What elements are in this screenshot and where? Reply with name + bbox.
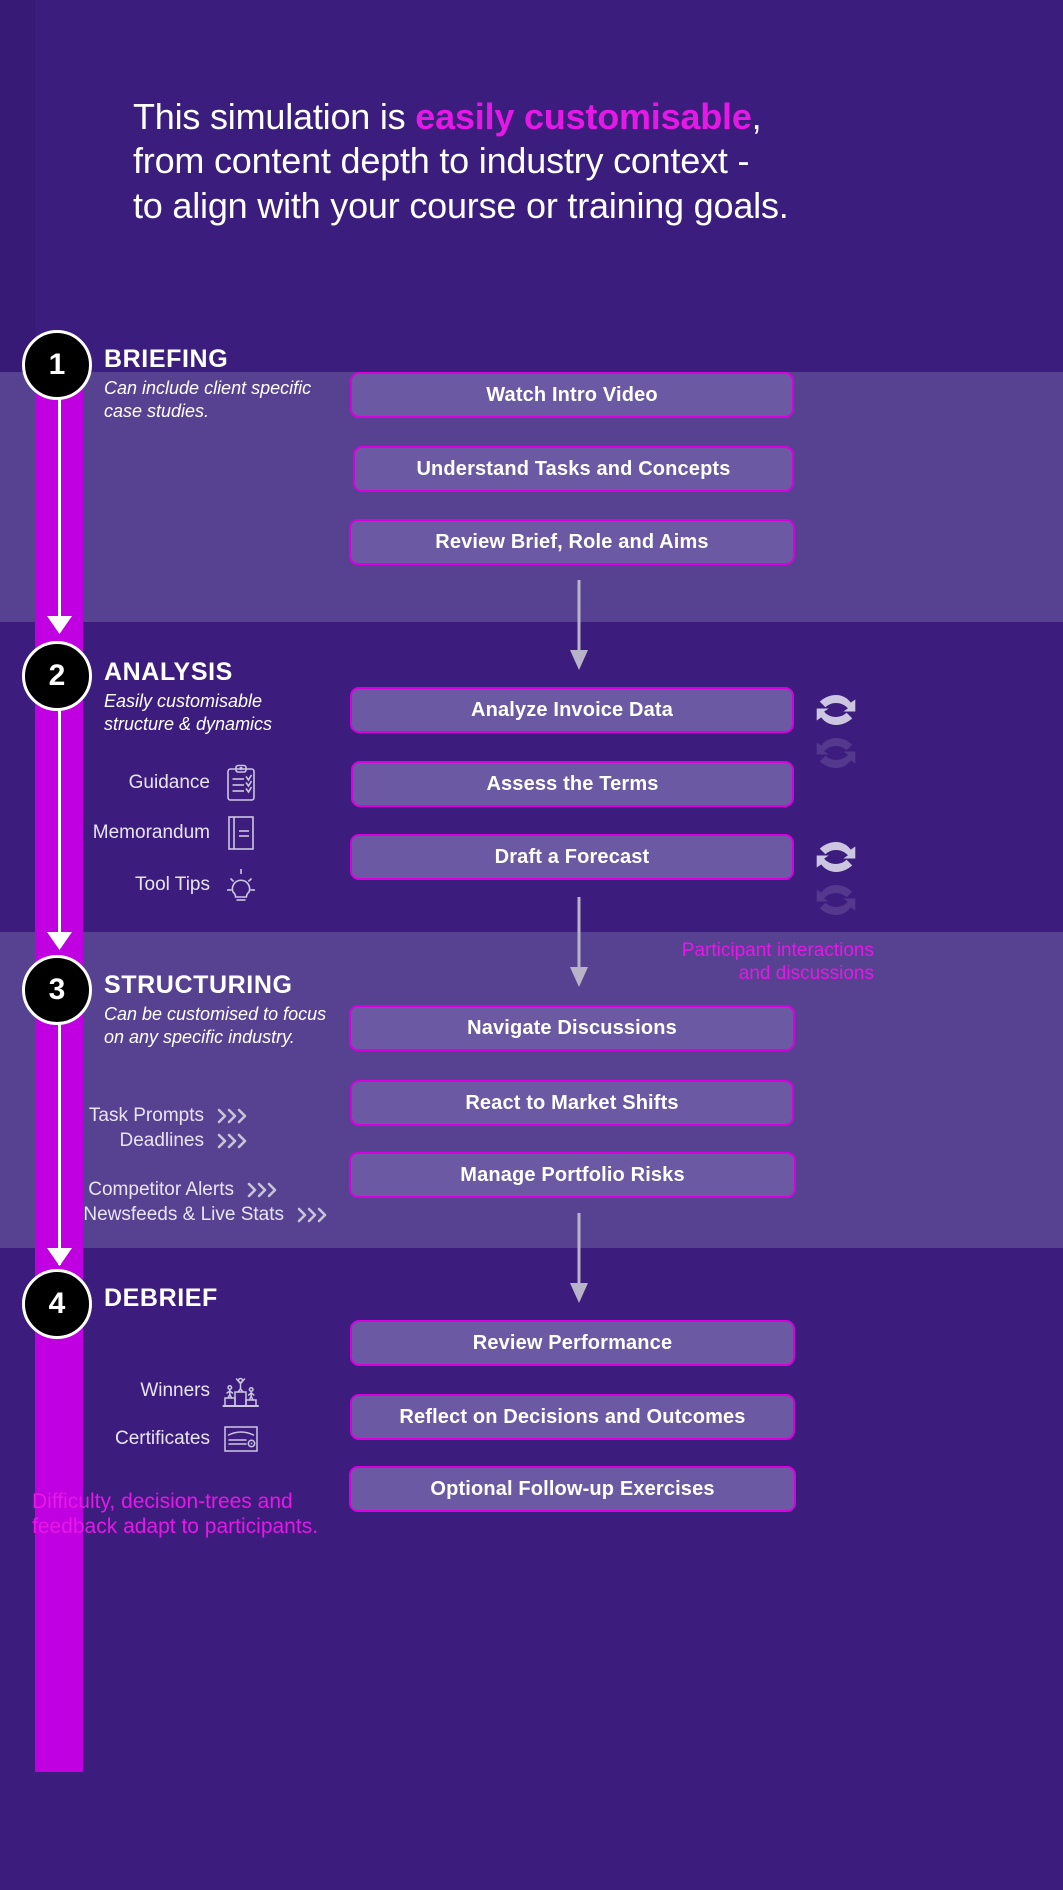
headline-line1-pre: This simulation is <box>133 96 415 137</box>
feature-label: Guidance <box>129 772 210 794</box>
headline-line1-post: , <box>752 96 762 137</box>
task-button-watch-intro-video[interactable]: Watch Intro Video <box>350 372 794 418</box>
connector-arrow-2-icon <box>567 897 591 987</box>
feature-row-guidance: Guidance <box>100 764 260 802</box>
headline-line2: from content depth to industry context - <box>133 140 749 181</box>
participant-note-line2: and discussions <box>610 963 874 986</box>
spine-line-1 <box>58 382 61 632</box>
task-button-navigate-discussions[interactable]: Navigate Discussions <box>349 1005 795 1051</box>
lightbulb-icon <box>222 866 260 904</box>
button-label: Watch Intro Video <box>486 384 657 407</box>
chevrons-icon <box>216 1131 250 1151</box>
spine-line-2 <box>58 700 61 948</box>
button-label: Assess the Terms <box>486 773 658 796</box>
step-title-3: STRUCTURING <box>104 972 344 998</box>
connector-arrow-1-icon <box>567 580 591 670</box>
notebook-icon <box>222 814 260 852</box>
feature-label: Competitor Alerts <box>88 1179 234 1201</box>
button-label: Review Brief, Role and Aims <box>435 531 708 554</box>
spine-line-3 <box>58 1015 61 1265</box>
feature-label: Newsfeeds & Live Stats <box>83 1204 284 1226</box>
feature-row-winners: Winners <box>100 1372 260 1410</box>
button-label: React to Market Shifts <box>465 1092 678 1115</box>
chevrons-icon <box>216 1106 250 1126</box>
sync-refresh-icon-2-reflection <box>810 878 862 922</box>
header-section: This simulation is easily customisable, … <box>0 0 1063 372</box>
chevrons-icon <box>296 1205 330 1225</box>
task-button-react-market-shifts[interactable]: React to Market Shifts <box>350 1080 794 1126</box>
feature-row-competitor-alerts: Competitor Alerts <box>64 1179 280 1201</box>
sync-refresh-icon-2[interactable] <box>810 835 862 879</box>
podium-icon <box>222 1372 260 1410</box>
button-label: Review Performance <box>473 1332 672 1355</box>
task-button-understand-tasks[interactable]: Understand Tasks and Concepts <box>353 446 794 492</box>
button-label: Navigate Discussions <box>467 1017 677 1040</box>
step-subtitle-1: Can include client specific case studies… <box>104 377 319 423</box>
task-button-manage-portfolio-risks[interactable]: Manage Portfolio Risks <box>349 1152 796 1198</box>
step-number-1: 1 <box>49 348 66 382</box>
step-circle-1[interactable]: 1 <box>22 330 92 400</box>
step-number-2: 2 <box>49 659 66 693</box>
step-subtitle-3: Can be customised to focus on any specif… <box>104 1003 344 1049</box>
step-title-4: DEBRIEF <box>104 1285 344 1311</box>
button-label: Optional Follow-up Exercises <box>430 1478 714 1501</box>
step-circle-2[interactable]: 2 <box>22 641 92 711</box>
step-header-3: STRUCTURING Can be customised to focus o… <box>104 972 344 1049</box>
certificate-icon <box>222 1420 260 1458</box>
feature-row-tool-tips: Tool Tips <box>90 866 260 904</box>
feature-row-memorandum: Memorandum <box>80 814 260 852</box>
task-button-draft-a-forecast[interactable]: Draft a Forecast <box>350 834 794 880</box>
button-label: Reflect on Decisions and Outcomes <box>399 1406 745 1429</box>
page-title: This simulation is easily customisable, … <box>133 95 993 228</box>
step-title-1: BRIEFING <box>104 346 319 372</box>
feature-row-deadlines: Deadlines <box>64 1130 250 1152</box>
spine-arrow-1-icon <box>47 614 72 634</box>
feature-label: Certificates <box>115 1428 210 1450</box>
button-label: Understand Tasks and Concepts <box>416 458 730 481</box>
headline-line3: to align with your course or training go… <box>133 185 789 226</box>
step-subtitle-2: Easily customisable structure & dynamics <box>104 690 334 736</box>
feature-row-newsfeeds: Newsfeeds & Live Stats <box>64 1204 330 1226</box>
task-button-analyze-invoice-data[interactable]: Analyze Invoice Data <box>350 687 794 733</box>
spine-arrow-2-icon <box>47 930 72 950</box>
chevrons-icon <box>246 1180 280 1200</box>
step-title-2: ANALYSIS <box>104 659 334 685</box>
task-button-assess-the-terms[interactable]: Assess the Terms <box>351 761 794 807</box>
feature-label: Memorandum <box>93 822 210 844</box>
connector-arrow-3-icon <box>567 1213 591 1303</box>
step-circle-4[interactable]: 4 <box>22 1269 92 1339</box>
sync-refresh-icon-1-reflection <box>810 731 862 775</box>
feature-label: Winners <box>140 1380 210 1402</box>
bottom-note: Difficulty, decision-trees and feedback … <box>32 1489 332 1539</box>
step-header-2: ANALYSIS Easily customisable structure &… <box>104 659 334 736</box>
headline-highlight: easily customisable <box>415 96 751 137</box>
sync-refresh-icon-1[interactable] <box>810 688 862 732</box>
button-label: Manage Portfolio Risks <box>460 1164 684 1187</box>
step-circle-3[interactable]: 3 <box>22 955 92 1025</box>
clipboard-checklist-icon <box>222 764 260 802</box>
feature-label: Deadlines <box>120 1130 205 1152</box>
feature-label: Tool Tips <box>135 874 210 896</box>
step-number-4: 4 <box>49 1287 66 1321</box>
feature-row-certificates: Certificates <box>76 1420 260 1458</box>
participant-note: Participant interactions and discussions <box>610 940 874 986</box>
task-button-review-brief[interactable]: Review Brief, Role and Aims <box>349 519 795 565</box>
step-number-3: 3 <box>49 973 66 1007</box>
button-label: Analyze Invoice Data <box>471 699 673 722</box>
button-label: Draft a Forecast <box>495 846 650 869</box>
feature-label: Task Prompts <box>89 1105 204 1127</box>
task-button-review-performance[interactable]: Review Performance <box>350 1320 795 1366</box>
feature-row-task-prompts: Task Prompts <box>90 1105 250 1127</box>
task-button-optional-followup[interactable]: Optional Follow-up Exercises <box>349 1466 796 1512</box>
infographic-page: This simulation is easily customisable, … <box>0 0 1063 1890</box>
task-button-reflect-decisions[interactable]: Reflect on Decisions and Outcomes <box>350 1394 795 1440</box>
step-header-4: DEBRIEF <box>104 1285 344 1311</box>
spine-arrow-3-icon <box>47 1246 72 1266</box>
participant-note-line1: Participant interactions <box>610 940 874 963</box>
step-header-1: BRIEFING Can include client specific cas… <box>104 346 319 423</box>
